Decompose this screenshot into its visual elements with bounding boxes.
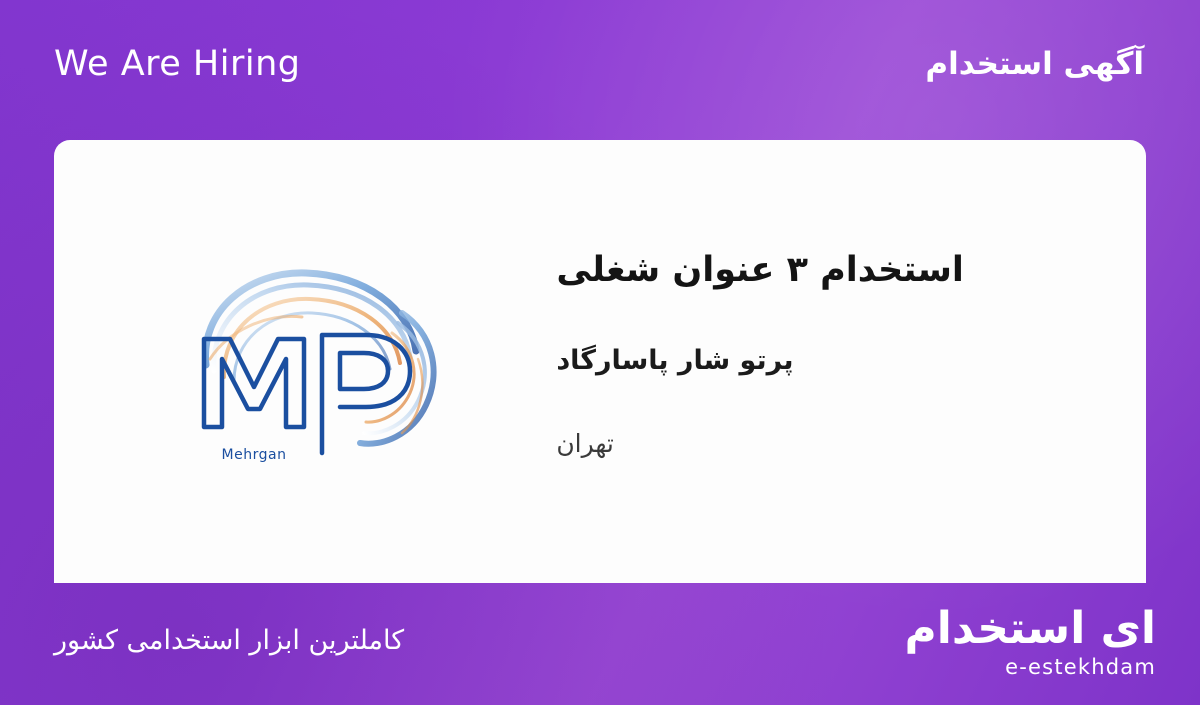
job-location: تهران xyxy=(556,425,614,463)
job-card: Mehrgan استخدام ۳ عنوان شغلی پرتو شار پا… xyxy=(54,140,1146,583)
poster-footer: کاملترین ابزار استخدامی کشور ای استخدام … xyxy=(0,583,1200,705)
brand-name-fa: ای استخدام xyxy=(905,607,1157,651)
job-title: استخدام ۳ عنوان شغلی xyxy=(556,244,964,297)
company-name: پرتو شار پاسارگاد xyxy=(556,341,793,382)
mehrgan-logo-icon: Mehrgan xyxy=(170,247,470,477)
job-details: استخدام ۳ عنوان شغلی پرتو شار پاسارگاد ت… xyxy=(556,140,1146,583)
company-logo-area: Mehrgan xyxy=(54,140,556,583)
brand-name-en: e-estekhdam xyxy=(1005,657,1156,678)
brand-logo: ای استخدام e-estekhdam xyxy=(905,607,1157,682)
footer-slogan: کاملترین ابزار استخدامی کشور xyxy=(54,623,404,664)
poster-header: We Are Hiring آگهی استخدام xyxy=(0,0,1200,140)
hiring-title-en: We Are Hiring xyxy=(54,47,301,94)
job-poster: We Are Hiring آگهی استخدام xyxy=(0,0,1200,705)
svg-text:Mehrgan: Mehrgan xyxy=(222,447,287,463)
hiring-title-fa: آگهی استخدام xyxy=(925,49,1166,92)
